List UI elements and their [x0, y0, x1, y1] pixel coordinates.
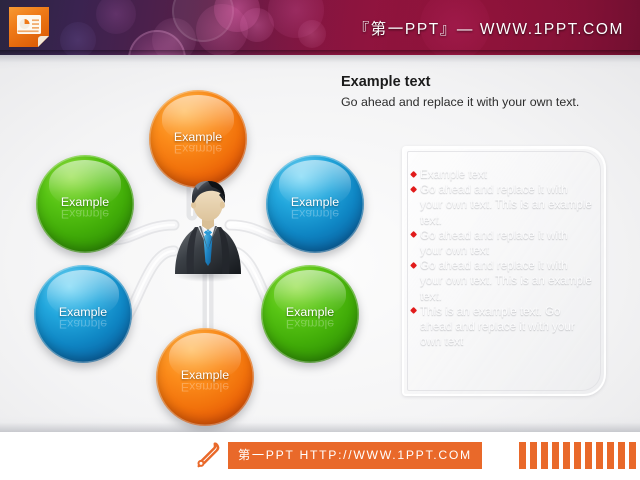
- node-label: Example: [261, 305, 359, 319]
- slide-canvas: 『第一PPT』— WWW.1PPT.COM Example text Go ah…: [0, 0, 640, 480]
- diagram-node-left-lower[interactable]: Example Example: [34, 265, 132, 363]
- footer-bar: 第一PPT HTTP://WWW.1PPT.COM: [0, 432, 640, 480]
- header-title: 『第一PPT』— WWW.1PPT.COM: [354, 17, 624, 39]
- node-label: Example: [36, 195, 134, 209]
- list-item-label: Go ahead and replace it with your own te…: [420, 183, 592, 226]
- node-label: Example: [266, 195, 364, 209]
- list-item: This is an example text. Go ahead and re…: [411, 304, 592, 350]
- node-label: Example: [34, 305, 132, 319]
- node-label-reflection: Example: [34, 317, 132, 331]
- footer-stripes-decoration: [519, 442, 640, 469]
- body-top-shadow: [0, 55, 640, 69]
- diagram-node-right-upper[interactable]: Example Example: [266, 155, 364, 253]
- diamond-bullet-icon: [410, 231, 417, 238]
- pencil-icon: [192, 440, 224, 472]
- radial-diagram: Example Example Example Example Example …: [16, 75, 386, 405]
- list-item: Go ahead and replace it with your own te…: [411, 228, 592, 258]
- diamond-bullet-icon: [410, 170, 417, 177]
- diagram-node-right-lower[interactable]: Example Example: [261, 265, 359, 363]
- node-label: Example: [149, 130, 247, 144]
- node-label-reflection: Example: [156, 380, 254, 394]
- node-label-reflection: Example: [261, 317, 359, 331]
- node-label: Example: [156, 368, 254, 382]
- diamond-bullet-icon: [410, 186, 417, 193]
- list-item: Go ahead and replace it with your own te…: [411, 258, 592, 304]
- body-bottom-shadow: [0, 416, 640, 432]
- diagram-node-left-upper[interactable]: Example Example: [36, 155, 134, 253]
- node-label-reflection: Example: [266, 207, 364, 221]
- footer-url-label: 第一PPT HTTP://WWW.1PPT.COM: [228, 442, 482, 469]
- list-item: Go ahead and replace it with your own te…: [411, 182, 592, 228]
- list-item: Example text: [411, 167, 592, 182]
- list-item-label: Go ahead and replace it with your own te…: [420, 259, 592, 302]
- bullet-list: Example text Go ahead and replace it wit…: [411, 167, 592, 349]
- node-label-reflection: Example: [149, 142, 247, 156]
- list-item-label: This is an example text. Go ahead and re…: [420, 305, 575, 348]
- header-bar: 『第一PPT』— WWW.1PPT.COM: [0, 0, 640, 55]
- diamond-bullet-icon: [410, 307, 417, 314]
- powerpoint-icon: [8, 6, 50, 48]
- list-item-label: Go ahead and replace it with your own te…: [420, 229, 568, 257]
- diamond-bullet-icon: [410, 262, 417, 269]
- list-item-label: Example text: [420, 168, 487, 181]
- businessman-avatar-icon: [165, 174, 251, 282]
- diagram-node-bottom-center[interactable]: Example Example: [156, 328, 254, 426]
- node-label-reflection: Example: [36, 207, 134, 221]
